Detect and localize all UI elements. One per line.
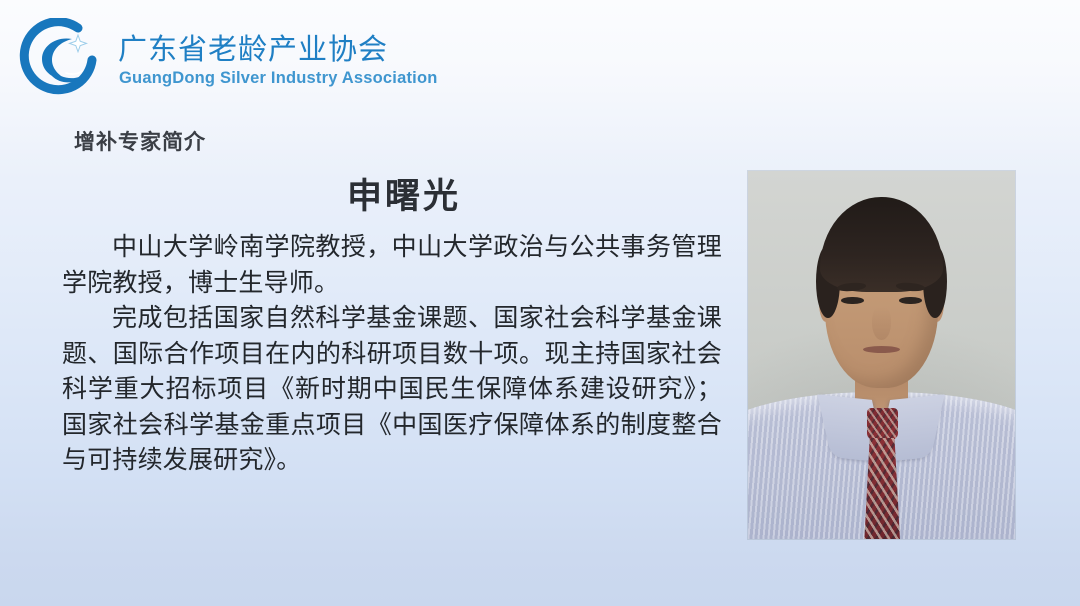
slide-canvas: 广东省老龄产业协会 GuangDong Silver Industry Asso… [0, 0, 1080, 606]
portrait-illustration [748, 171, 1015, 539]
eye-right [899, 297, 922, 304]
org-name-en: GuangDong Silver Industry Association [119, 68, 438, 88]
nose [872, 307, 891, 340]
tie-knot [867, 408, 898, 439]
expert-bio: 中山大学岭南学院教授，中山大学政治与公共事务管理学院教授，博士生导师。 完成包括… [62, 230, 722, 479]
bio-paragraph-2: 完成包括国家自然科学基金课题、国家社会科学基金课题、国际合作项目在内的科研项目数… [62, 301, 722, 479]
bio-paragraph-1: 中山大学岭南学院教授，中山大学政治与公共事务管理学院教授，博士生导师。 [62, 230, 722, 301]
section-heading: 增补专家简介 [74, 129, 206, 157]
mouth [863, 346, 900, 353]
org-name-cn: 广东省老龄产业协会 [118, 33, 388, 67]
expert-name: 申曙光 [74, 175, 734, 219]
association-circle-logo-icon [18, 18, 102, 98]
expert-photo [748, 171, 1015, 539]
hair [820, 197, 943, 293]
slide-header: 广东省老龄产业协会 GuangDong Silver Industry Asso… [0, 0, 1080, 112]
